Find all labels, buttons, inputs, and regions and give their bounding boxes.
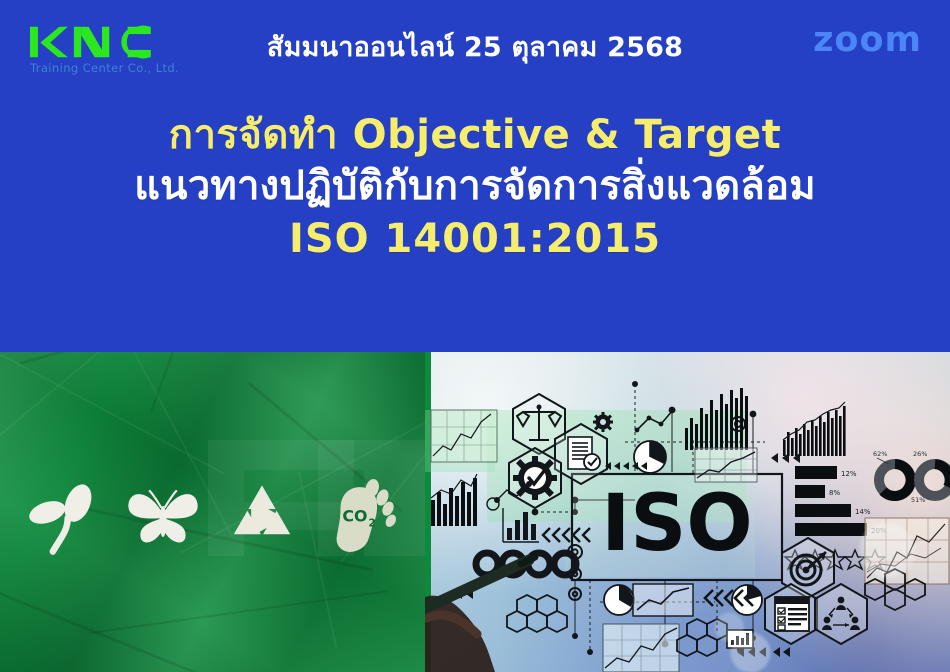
butterfly-icon xyxy=(125,477,201,559)
co2-label: CO xyxy=(343,507,368,526)
donut-row-lower xyxy=(476,553,576,575)
seminar-poster: Training Center Co., Ltd. สัมมนาออนไลน์ … xyxy=(0,0,950,672)
dashboard-icon xyxy=(727,630,753,651)
bar-label-0: 12% xyxy=(841,470,857,478)
eco-green-panel: CO 2 xyxy=(0,352,425,672)
people-network-icon xyxy=(815,584,867,644)
headline-line-2: แนวทางปฏิบัติกับการจัดการสิ่งแวดล้อม xyxy=(0,163,950,210)
donut-label-3: 51% xyxy=(911,496,925,504)
hex-pattern-mid xyxy=(677,619,727,656)
iso-infographic-graphics: ISO xyxy=(425,352,950,672)
hex-pattern-left xyxy=(507,595,567,632)
bar-label-2: 14% xyxy=(855,508,871,516)
header-band: Training Center Co., Ltd. สัมมนาออนไลน์ … xyxy=(0,0,950,352)
page-title: การจัดทำ Objective & Target แนวทางปฏิบัต… xyxy=(0,112,950,264)
small-gear-icon xyxy=(593,412,613,432)
recycle-icon xyxy=(224,477,300,559)
carbon-footprint-icon: CO 2 xyxy=(323,477,399,559)
bar-label-1: 8% xyxy=(829,489,840,497)
right-grid-chart xyxy=(865,518,949,584)
headline-line-3: ISO 14001:2015 xyxy=(0,216,950,263)
jagged-bar-chart xyxy=(783,402,846,456)
eco-icon-row: CO 2 xyxy=(0,470,425,566)
pie-chart-icon xyxy=(634,441,666,473)
imagery-row: CO 2 xyxy=(0,352,950,672)
svg-text:2: 2 xyxy=(369,517,376,529)
iso-infographic-panel: ISO xyxy=(425,352,950,672)
left-bar-line-chart xyxy=(431,474,477,526)
headline-line-1: การจัดทำ Objective & Target xyxy=(0,112,950,159)
arrow-marks-lower-left xyxy=(455,589,473,599)
line-chart-boxed xyxy=(633,584,693,616)
seminar-date-line: สัมมนาออนไลน์ 25 ตุลาคม 2568 xyxy=(0,25,950,68)
donut-label-1: 26% xyxy=(913,450,927,458)
iso-center-label: ISO xyxy=(601,479,753,569)
sprout-icon xyxy=(26,477,102,559)
zoom-logo: zoom xyxy=(813,23,922,58)
donut-label-0: 62% xyxy=(873,450,887,458)
grid-line-chart xyxy=(695,448,757,482)
pie-chart-lower-1 xyxy=(604,585,634,615)
lower-grid-chart xyxy=(603,624,679,672)
donut-chart-row: 62% 26% 51% xyxy=(873,450,950,504)
left-grid-chart xyxy=(431,410,497,462)
